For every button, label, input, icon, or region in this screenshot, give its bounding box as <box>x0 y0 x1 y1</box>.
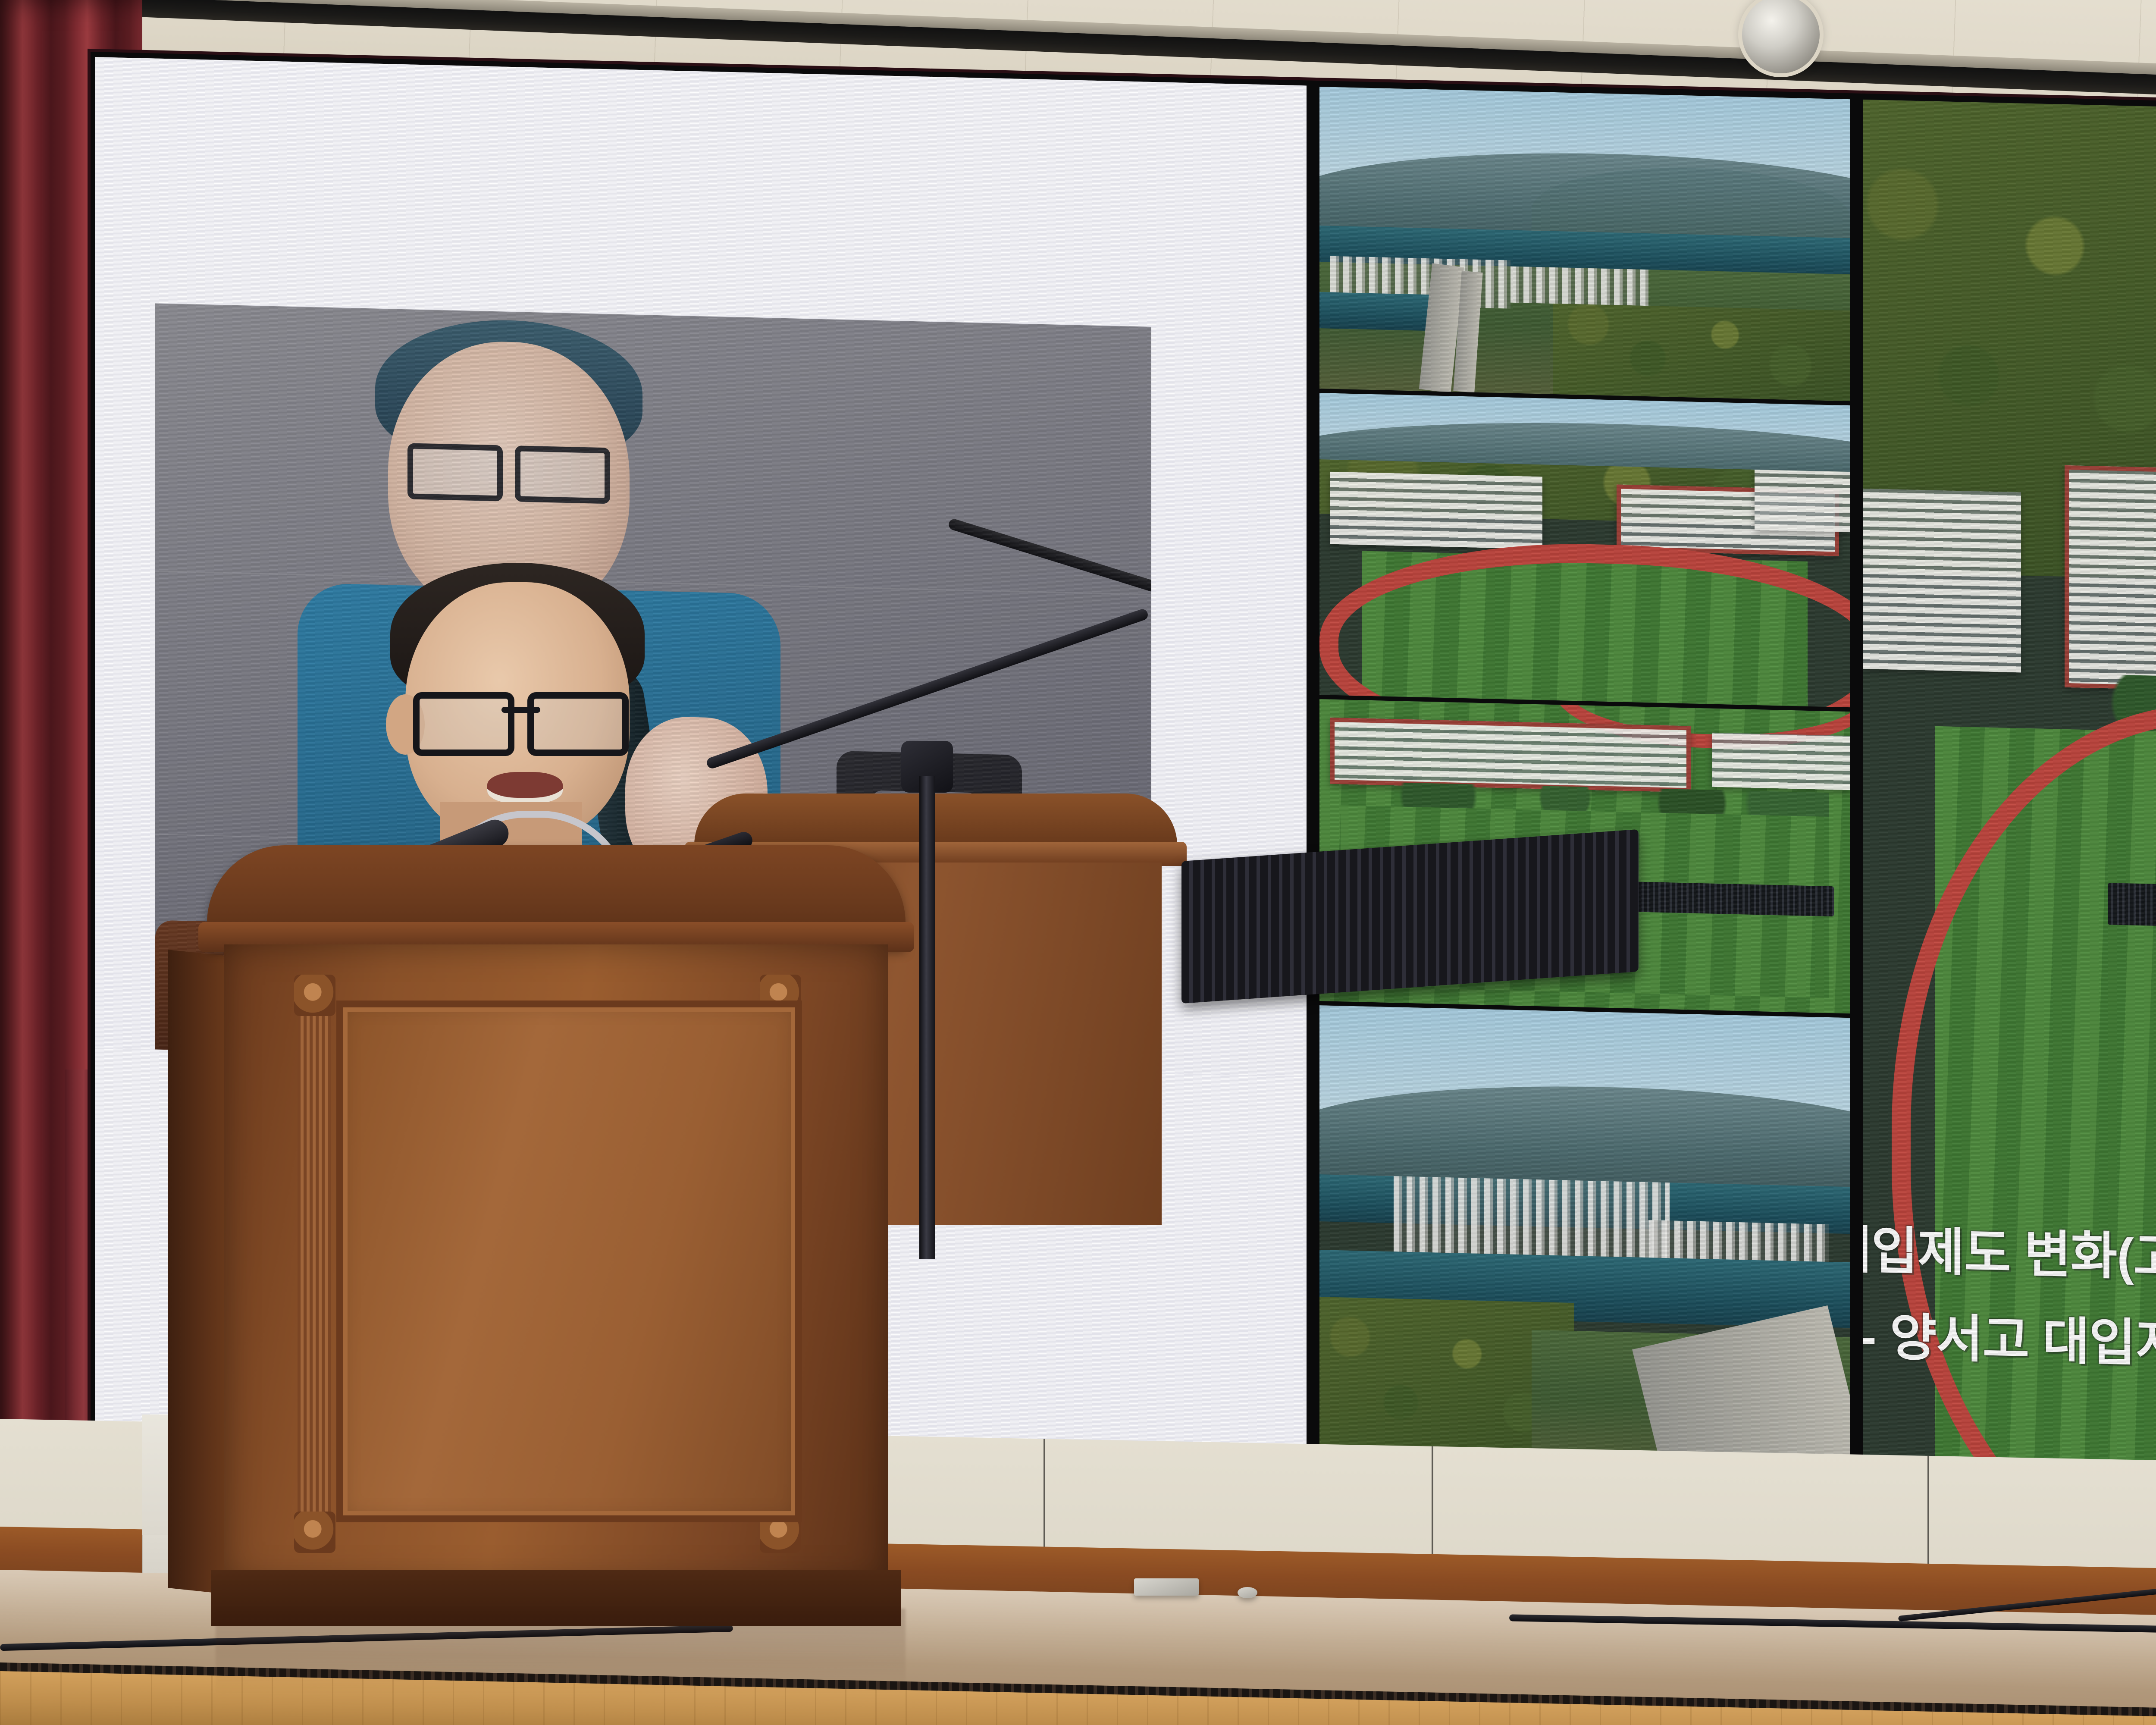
presenter-mouth <box>487 772 563 804</box>
feed-mic-boom <box>947 517 1151 600</box>
auditorium-photo: 대입제도 변화(고교학점제 등) 안내 - 양서고 대입지원 전략 준비(고1)… <box>0 0 2156 1725</box>
running-track <box>1892 697 2156 1505</box>
school-building-main <box>2065 465 2156 695</box>
glasses-icon <box>413 692 629 748</box>
school-building <box>1863 488 2021 672</box>
student-crowd <box>2108 883 2156 926</box>
podium-fluted-column <box>298 988 331 1535</box>
school-building <box>1755 470 1850 532</box>
slide-photo-campus-large: 대입제도 변화(고교학점제 등) 안내 - 양서고 대입지원 전략 준비(고1) <box>1863 100 2156 1505</box>
floor-debris <box>1238 1587 1257 1598</box>
school-building <box>1712 733 1850 790</box>
school-building <box>1330 472 1542 549</box>
podium-rosette-carving <box>294 1512 335 1553</box>
floor-debris <box>1134 1578 1199 1596</box>
slide-photo-city-river <box>1319 1005 1850 1488</box>
main-podium <box>207 845 906 1639</box>
slide-photo-school-track <box>1319 393 1850 707</box>
podium-side-panel <box>168 950 233 1595</box>
podium-rosette-carving <box>294 975 335 1016</box>
school-building <box>1330 718 1691 793</box>
podium-floor-reflection <box>216 1609 906 1695</box>
feed-glasses-icon <box>407 443 610 495</box>
podium-front-panel <box>336 1000 802 1522</box>
slide-photo-river-town-top <box>1319 87 1850 401</box>
boom-pole <box>919 776 935 1259</box>
